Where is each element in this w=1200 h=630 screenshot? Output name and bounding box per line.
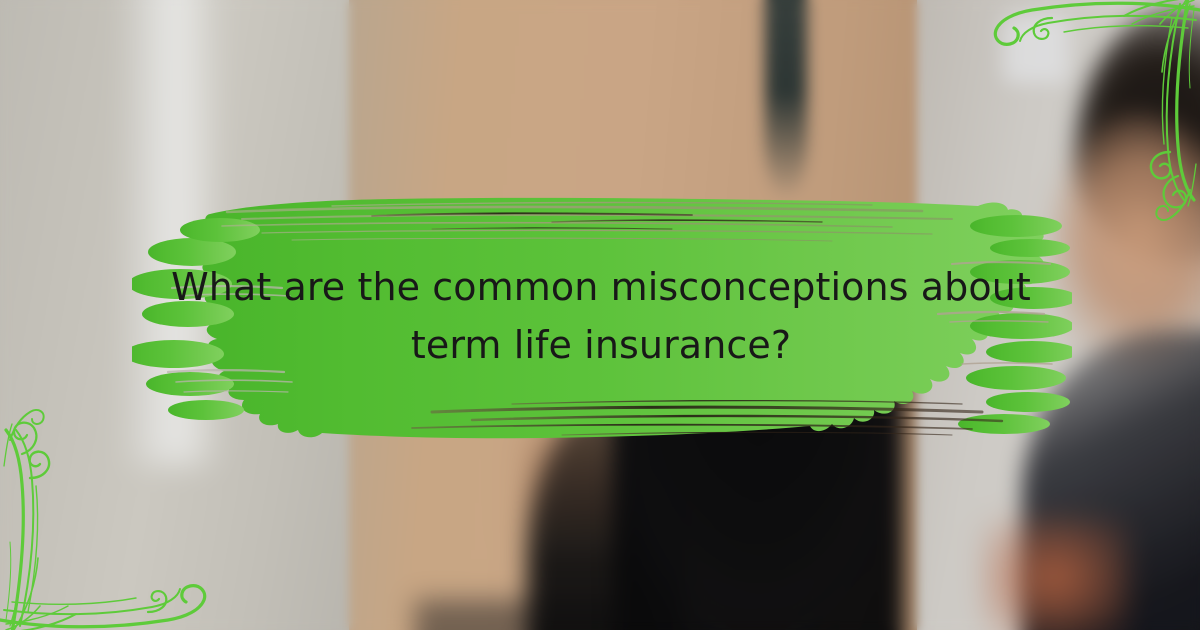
featured-image-canvas: What are the common misconceptions about… bbox=[0, 0, 1200, 630]
page-title: What are the common misconceptions about… bbox=[170, 258, 1032, 374]
